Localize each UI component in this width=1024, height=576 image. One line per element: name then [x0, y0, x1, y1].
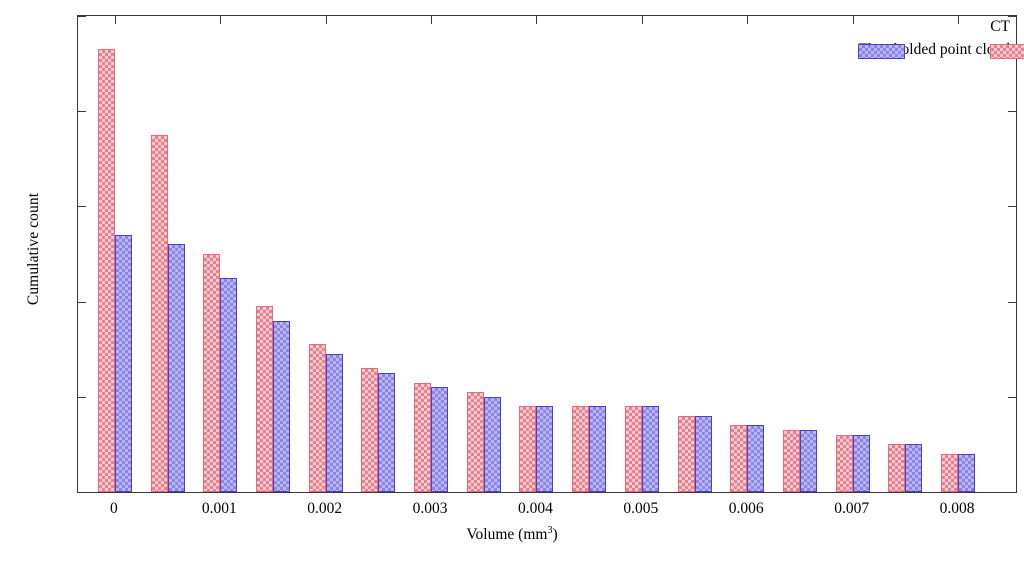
- legend: CT Thresholded point cloud: [858, 18, 1010, 59]
- bar-ct-15: [888, 444, 905, 492]
- x-tick-label-0.003: 0.003: [370, 500, 490, 518]
- bar-tpc-7: [484, 397, 501, 492]
- bar-ct-16: [941, 454, 958, 492]
- legend-label-ct: CT: [990, 18, 1010, 36]
- bar-ct-5: [361, 368, 378, 492]
- x-tick-mark-4: [536, 16, 537, 24]
- bar-tpc-9: [589, 406, 606, 492]
- bar-tpc-16: [958, 454, 975, 492]
- x-tick-label-0.007: 0.007: [792, 500, 912, 518]
- bar-tpc-2: [220, 278, 237, 492]
- x-tick-label-0.002: 0.002: [265, 500, 385, 518]
- bar-ct-11: [678, 416, 695, 492]
- y-tick-mark-1: [78, 397, 86, 398]
- y-tick-mark-2: [78, 302, 86, 303]
- x-tick-mark-0: [115, 16, 116, 24]
- x-tick-label-0.004: 0.004: [475, 500, 595, 518]
- y-tick-mark-5: [78, 16, 86, 17]
- x-tick-label-0: 0: [54, 500, 174, 518]
- y-axis-title: Cumulative count: [25, 39, 43, 459]
- bar-ct-0: [98, 49, 115, 492]
- bars-layer: [78, 16, 1016, 492]
- bar-tpc-0: [115, 235, 132, 492]
- x-tick-label-0.006: 0.006: [686, 500, 806, 518]
- bar-tpc-11: [695, 416, 712, 492]
- cumulative-count-bar-chart: 02040608010000.0010.0020.0030.0040.0050.…: [0, 0, 1024, 576]
- bar-ct-4: [309, 344, 326, 492]
- bar-tpc-6: [431, 387, 448, 492]
- x-tick-mark-3: [431, 16, 432, 24]
- y-tick-mark-3: [78, 206, 86, 207]
- bar-tpc-12: [747, 425, 764, 492]
- x-axis-title: Volume (mm3): [0, 525, 1024, 544]
- legend-item-ct: CT: [990, 18, 1010, 36]
- plot-area: [77, 15, 1017, 493]
- bar-ct-14: [836, 435, 853, 492]
- y-tick-mark-3-right: [1008, 206, 1016, 207]
- bar-ct-12: [730, 425, 747, 492]
- bar-tpc-8: [536, 406, 553, 492]
- y-tick-mark-2-right: [1008, 302, 1016, 303]
- bar-ct-10: [625, 406, 642, 492]
- bar-tpc-4: [326, 354, 343, 492]
- x-tick-mark-2: [326, 16, 327, 24]
- x-tick-mark-6: [747, 16, 748, 24]
- x-tick-mark-7: [853, 16, 854, 24]
- bar-ct-1: [151, 135, 168, 492]
- bar-ct-2: [203, 254, 220, 492]
- bar-ct-3: [256, 306, 273, 492]
- y-tick-mark-4-right: [1008, 111, 1016, 112]
- bar-tpc-5: [378, 373, 395, 492]
- legend-item-thresholded-point-cloud: Thresholded point cloud: [858, 41, 1010, 59]
- bar-ct-6: [414, 383, 431, 492]
- x-tick-label-0.001: 0.001: [159, 500, 279, 518]
- bar-tpc-14: [853, 435, 870, 492]
- legend-swatch-ct: [990, 44, 1024, 59]
- bar-ct-8: [519, 406, 536, 492]
- bar-ct-13: [783, 430, 800, 492]
- bar-tpc-15: [905, 444, 922, 492]
- legend-swatch-thresholded-point-cloud: [858, 44, 905, 59]
- bar-ct-7: [467, 392, 484, 492]
- y-tick-mark-0-right: [1008, 492, 1016, 493]
- bar-tpc-1: [168, 244, 185, 492]
- x-tick-label-0.005: 0.005: [581, 500, 701, 518]
- y-tick-mark-5-right: [1008, 16, 1016, 17]
- x-tick-label-0.008: 0.008: [897, 500, 1017, 518]
- y-tick-mark-4: [78, 111, 86, 112]
- y-tick-mark-0: [78, 492, 86, 493]
- bar-tpc-3: [273, 321, 290, 492]
- x-tick-mark-5: [642, 16, 643, 24]
- x-tick-mark-1: [220, 16, 221, 24]
- bar-tpc-13: [800, 430, 817, 492]
- bar-tpc-10: [642, 406, 659, 492]
- x-axis-title-base: Volume (mm: [466, 526, 547, 543]
- x-axis-title-close: ): [552, 526, 557, 543]
- y-tick-mark-1-right: [1008, 397, 1016, 398]
- bar-ct-9: [572, 406, 589, 492]
